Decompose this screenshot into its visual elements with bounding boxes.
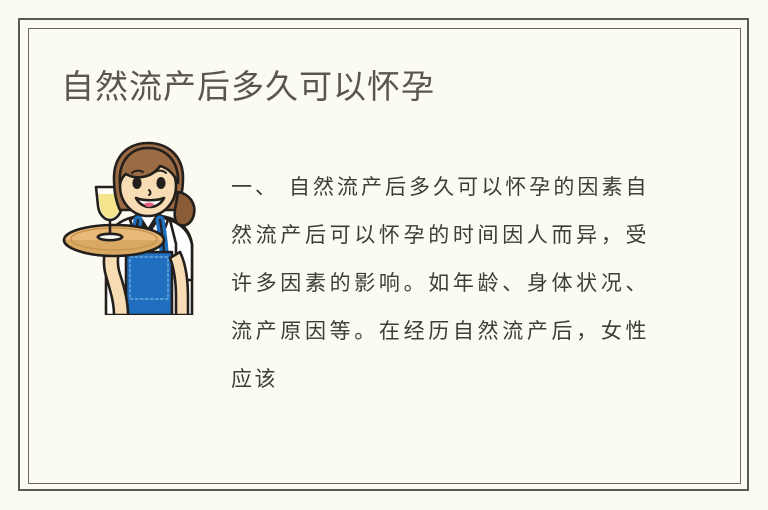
article-body: 一、 自然流产后多久可以怀孕的因素自然流产后可以怀孕的时间因人而异，受许多因素的… bbox=[231, 163, 649, 403]
page-title: 自然流产后多久可以怀孕 bbox=[61, 66, 435, 108]
waitress-with-tray-illustration bbox=[52, 140, 222, 315]
page-root: 自然流产后多久可以怀孕 bbox=[0, 0, 768, 510]
article-paragraph: 一、 自然流产后多久可以怀孕的因素自然流产后可以怀孕的时间因人而异，受许多因素的… bbox=[231, 163, 649, 403]
